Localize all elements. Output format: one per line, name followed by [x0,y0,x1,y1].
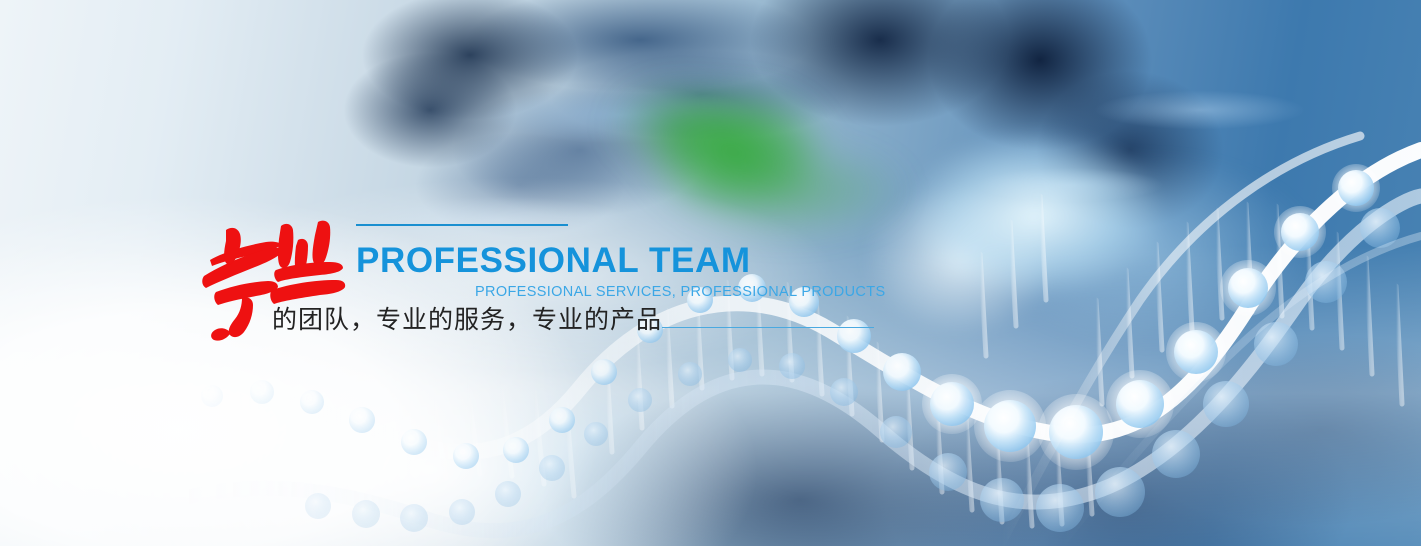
background-glassware-glow [0,0,1421,546]
background-white-wash [0,0,1421,546]
background-base-gradient [0,0,1421,546]
page-title: PROFESSIONAL TEAM [356,243,751,278]
hero-banner: PROFESSIONAL TEAM PROFESSIONAL SERVICES,… [0,0,1421,546]
background-lower-dark-pool [0,0,1421,546]
background-green-blob [0,0,1421,546]
brush-calligraphy-icon [186,206,346,346]
page-subtitle-en: PROFESSIONAL SERVICES, PROFESSIONAL PROD… [475,285,885,300]
dna-helix-graphic [0,0,1421,546]
background-light-streaks [0,0,1421,546]
background-blurred-equipment [0,0,1421,546]
rule-top-decorative [356,224,568,226]
headline-block: PROFESSIONAL TEAM PROFESSIONAL SERVICES,… [0,0,1421,546]
page-subtitle-cn: 的团队，专业的服务，专业的产品 [272,306,662,335]
background-headline-wash [0,0,1421,546]
rule-bottom-decorative [662,327,874,328]
